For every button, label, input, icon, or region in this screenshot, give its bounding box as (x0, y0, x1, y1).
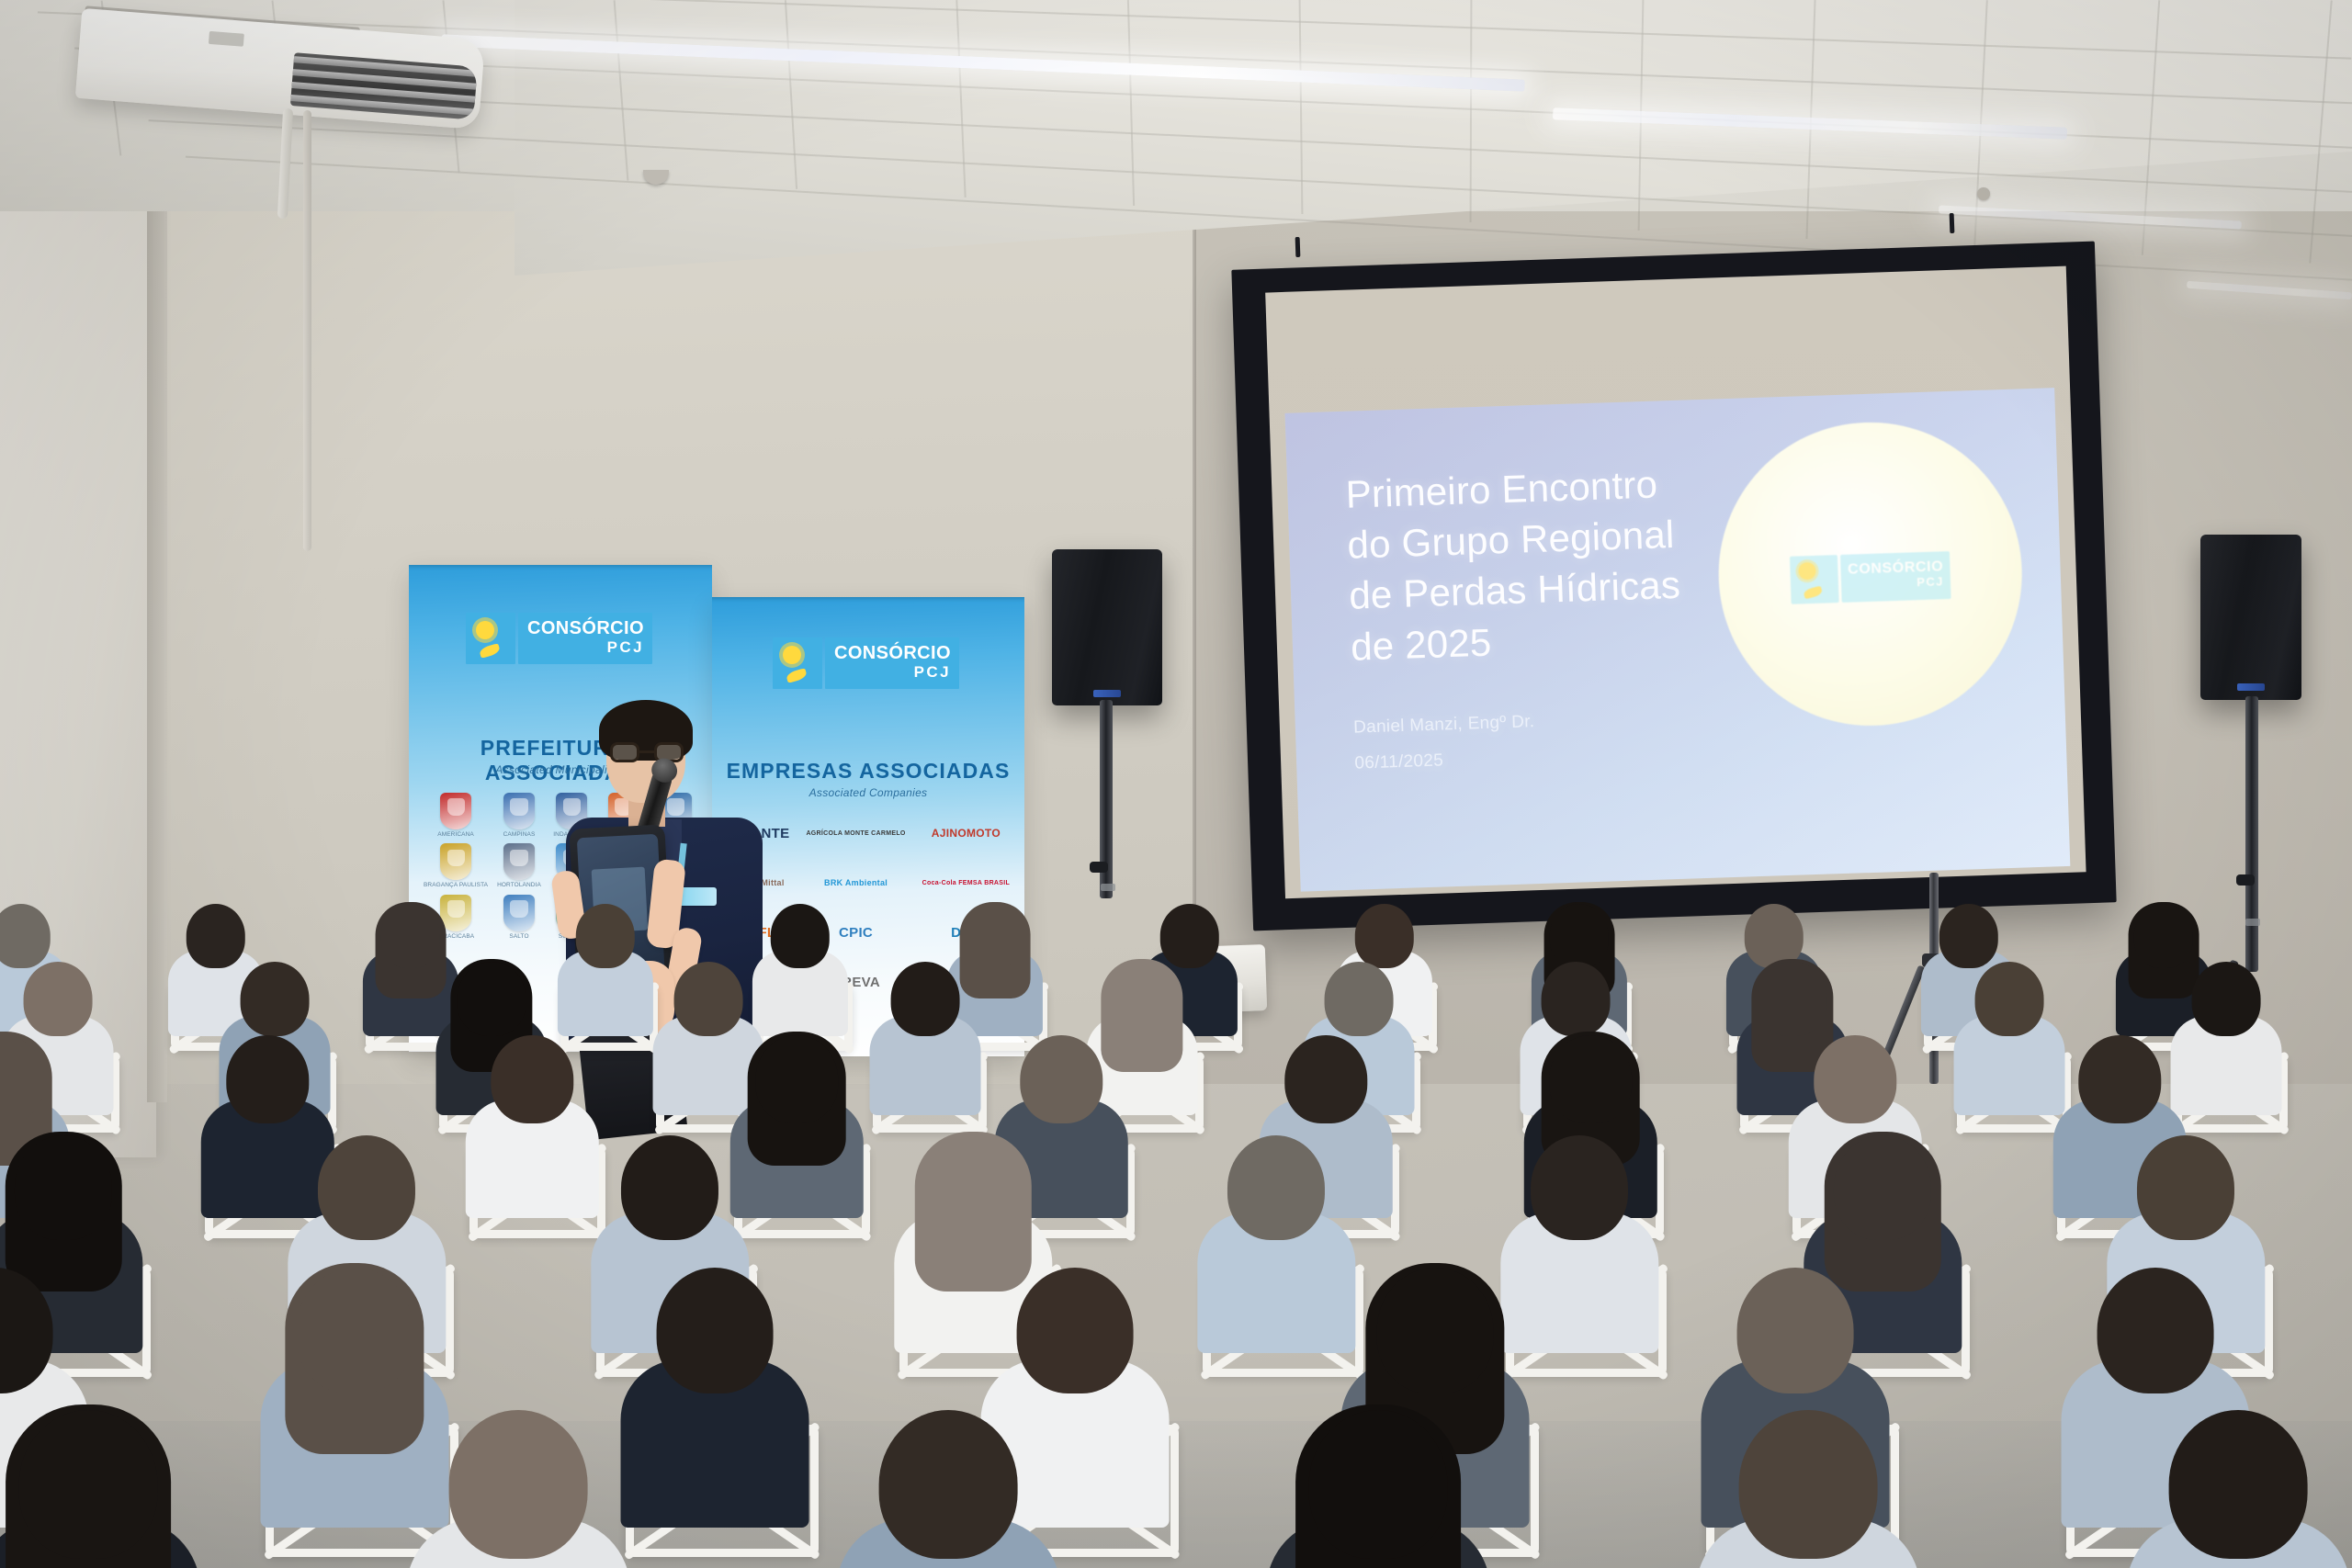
speaker-logo-badge-right (2237, 683, 2265, 691)
audience-member-head (1108, 962, 1177, 1036)
ac-display-panel (209, 31, 244, 47)
consorcio-pcj-logo-banner-left: CONSÓRCIO PCJ (466, 613, 652, 664)
audience-member-head (241, 962, 310, 1036)
slide-date: 06/11/2025 (1354, 750, 1443, 773)
audience-member-head (621, 1135, 718, 1240)
municipal-crest-icon (440, 793, 471, 829)
audience-member-head (755, 1035, 837, 1123)
sun-fish-mark-icon (773, 637, 822, 689)
company-name: BRK Ambiental (824, 878, 888, 887)
audience-member (1953, 955, 2065, 1108)
municipality-crest-item: CAMPINAS (497, 793, 541, 838)
presentation-slide: CONSÓRCIO PCJ Primeiro Encontro do Grupo… (1285, 388, 2070, 892)
audience-member-head (2137, 1135, 2234, 1240)
company-logo-item: BRK Ambiental (806, 867, 905, 898)
audience-member-head (1284, 1035, 1366, 1123)
audience-member-head (770, 904, 829, 967)
municipality-name: SALTO (497, 933, 541, 940)
company-name: AJINOMOTO (932, 827, 1001, 840)
municipality-name: HORTOLÂNDIA (497, 882, 541, 888)
municipal-crest-icon (503, 843, 535, 880)
conference-room-photo: CONSÓRCIO PCJ Primeiro Encontro do Grupo… (0, 0, 2352, 1568)
audience-member-head (1834, 1135, 1931, 1240)
speaker-stand-knob-left (1090, 862, 1108, 873)
sun-fish-mark-icon (466, 613, 515, 664)
slide-title: Primeiro Encontro do Grupo Regional de P… (1345, 456, 1751, 672)
ac-vent-grille (290, 52, 478, 120)
audience-member (835, 1396, 1062, 1568)
audience-member (465, 1027, 599, 1209)
audience-member (1197, 1126, 1356, 1342)
audience-member (2125, 1396, 2352, 1568)
audience-member-head (674, 962, 743, 1036)
audience-member-head (2078, 1035, 2160, 1123)
logo-word-top: CONSÓRCIO (834, 644, 951, 662)
audience-member-head (1309, 1410, 1448, 1559)
audience-member (752, 898, 848, 1030)
speaker-logo-badge-left (1093, 690, 1121, 697)
company-name: Coca-Cola FEMSA BRASIL (922, 880, 1010, 886)
logo-wordmark: CONSÓRCIO PCJ (518, 613, 652, 664)
municipality-crest-item: AMERICANA (424, 793, 488, 838)
audience-member-head (924, 1135, 1022, 1240)
municipality-name: CAMPINAS (497, 831, 541, 838)
audience-member-head (491, 1035, 572, 1123)
municipality-crest-item: HORTOLÂNDIA (497, 843, 541, 888)
audience-member (619, 1257, 809, 1515)
fish-icon (479, 643, 501, 659)
audience-member-head (1975, 962, 2044, 1036)
screen-hook-left (1295, 237, 1301, 257)
audience-member-head (1020, 1035, 1102, 1123)
speaker-stand-pole-right (2245, 696, 2258, 972)
audience-member (2170, 955, 2282, 1108)
municipal-crest-icon (503, 895, 535, 931)
sun-icon (783, 646, 801, 664)
sun-icon (1798, 561, 1816, 580)
logo-wordmark: CONSÓRCIO PCJ (825, 637, 959, 689)
smoke-detector-icon (1977, 187, 1990, 200)
speaker-stand-band-right (2245, 919, 2260, 926)
municipality-crest-item: SALTO (497, 895, 541, 940)
fish-icon (786, 668, 808, 683)
audience-member-head (2097, 1268, 2213, 1393)
logo-word-bottom: PCJ (914, 662, 951, 683)
audience-member (869, 955, 981, 1108)
audience-member-head (2169, 1410, 2308, 1559)
consorcio-pcj-logo-banner-right: CONSÓRCIO PCJ (773, 637, 959, 689)
fish-icon (1803, 585, 1823, 599)
audience-member-head (380, 904, 439, 967)
audience-member-head (656, 1268, 773, 1393)
municipality-name: AMERICANA (424, 831, 488, 838)
company-logo-item: AGRÍCOLA MONTE CARMELO (806, 818, 905, 849)
logo-word-bottom: PCJ (607, 637, 644, 659)
audience-member-head (879, 1410, 1018, 1559)
projection-screen: CONSÓRCIO PCJ Primeiro Encontro do Grupo… (1231, 242, 2116, 931)
audience-member-head (1227, 1135, 1325, 1240)
wall-conduit (303, 110, 311, 551)
company-logo-item: AJINOMOTO (922, 818, 1010, 849)
municipality-name: BRAGANÇA PAULISTA (424, 882, 488, 888)
company-name: AGRÍCOLA MONTE CARMELO (806, 830, 905, 837)
audience-member-head (1549, 1035, 1631, 1123)
audience-member-head (1739, 1410, 1878, 1559)
sun-icon (476, 621, 494, 639)
screen-surface: CONSÓRCIO PCJ Primeiro Encontro do Grupo… (1265, 266, 2086, 899)
screen-hook-right (1950, 213, 1955, 233)
audience-member (405, 1396, 632, 1568)
audience-member-head (458, 962, 526, 1036)
audience-member-head (2192, 962, 2261, 1036)
audience-member-head (449, 1410, 588, 1559)
municipality-crest-item: BRAGANÇA PAULISTA (424, 843, 488, 888)
speaker-cabinet-right (2200, 535, 2301, 700)
audience-member-head (1814, 1035, 1895, 1123)
audience-member-head (1736, 1268, 1853, 1393)
audience-member-head (226, 1035, 308, 1123)
audience-member (0, 1396, 201, 1568)
audience-member-head (1531, 1135, 1628, 1240)
company-logo-item: Coca-Cola FEMSA BRASIL (922, 867, 1010, 898)
audience-member (1695, 1396, 1922, 1568)
audience-member-head (1325, 962, 1394, 1036)
logo-wordmark: CONSÓRCIO PCJ (1840, 551, 1951, 603)
speaker-stand-knob-right (2236, 874, 2255, 886)
eyeglasses-icon (610, 742, 684, 762)
sun-fish-mark-icon (1790, 555, 1839, 604)
audience-member-head (24, 962, 93, 1036)
audience-member-head (1542, 962, 1611, 1036)
audience-member-head (891, 962, 960, 1036)
audience-member (1265, 1396, 1492, 1568)
logo-word-bottom: PCJ (1917, 574, 1944, 591)
audience-member-head (1758, 962, 1827, 1036)
audience-member-head (19, 1410, 158, 1559)
logo-word-top: CONSÓRCIO (527, 619, 644, 637)
audience-member-head (1016, 1268, 1133, 1393)
audience-member-head (318, 1135, 415, 1240)
audience-member-head (296, 1268, 413, 1393)
audience-member (557, 898, 653, 1030)
municipal-crest-icon (440, 843, 471, 880)
audience-member-head (575, 904, 634, 967)
audience-member-head (15, 1135, 112, 1240)
audience-member-head (1376, 1268, 1493, 1393)
speaker-stand-band-left (1101, 884, 1115, 891)
municipal-crest-icon (503, 793, 535, 829)
speaker-cabinet-left (1052, 549, 1162, 705)
consorcio-pcj-logo-slide: CONSÓRCIO PCJ (1790, 551, 1951, 604)
